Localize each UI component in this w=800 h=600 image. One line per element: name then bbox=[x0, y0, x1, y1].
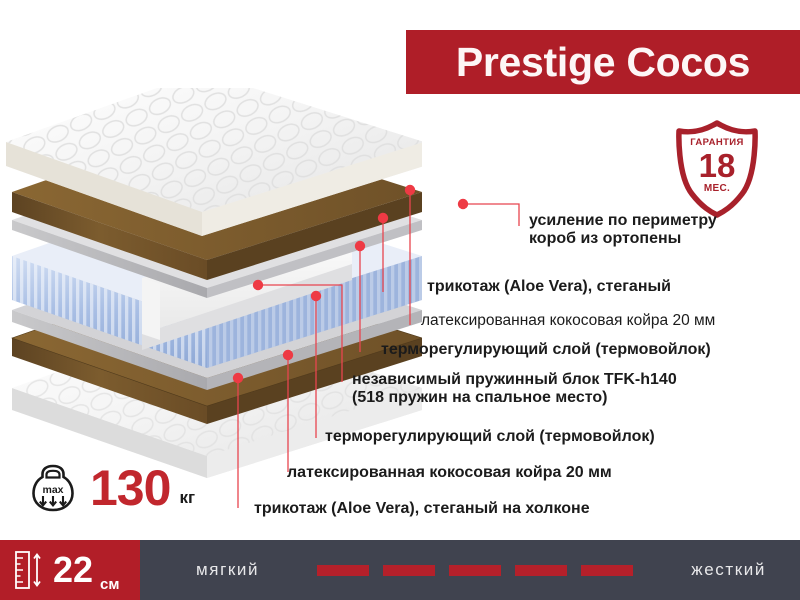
firmness-firm-label: жесткий bbox=[691, 560, 766, 580]
svg-text:max: max bbox=[42, 484, 63, 496]
firmness-marks bbox=[317, 565, 633, 576]
firmness-mark bbox=[581, 565, 633, 576]
callout-perimeter-line2: короб из ортопены bbox=[529, 230, 794, 248]
height-unit: см bbox=[100, 576, 119, 593]
callout-coir-bottom: латексированная кокосовая койра 20 мм bbox=[287, 464, 612, 482]
warranty-bottom-label: МЕС. bbox=[672, 184, 762, 194]
product-title: Prestige Cocos bbox=[456, 42, 750, 83]
firmness-mark bbox=[449, 565, 501, 576]
callout-knit-top: трикотаж (Aloe Vera), стеганый bbox=[427, 278, 671, 296]
callout-felt-top: терморегулирующий слой (термовойлок) bbox=[381, 341, 711, 359]
callout-spring-block-line1: независимый пружинный блок TFK-h140 bbox=[352, 371, 798, 389]
bottom-spec-bar: 22 см мягкий жесткий bbox=[0, 540, 800, 600]
callout-felt-bottom: терморегулирующий слой (термовойлок) bbox=[325, 428, 655, 446]
warranty-badge: ГАРАНТИЯ 18 МЕС. bbox=[672, 120, 762, 218]
product-infographic: Prestige Cocos ГАРАНТИЯ 18 МЕС. bbox=[0, 0, 800, 600]
callout-perimeter: усиление по периметру короб из ортопены bbox=[529, 212, 794, 248]
firmness-scale: мягкий жесткий bbox=[140, 540, 800, 600]
weight-limit-unit: кг bbox=[179, 488, 195, 508]
height-spec-block: 22 см bbox=[0, 540, 140, 600]
callout-coir-top: латексированная кокосовая койра 20 мм bbox=[421, 312, 715, 330]
weight-limit-block: max 130 кг bbox=[30, 462, 195, 514]
callout-perimeter-line1: усиление по периметру bbox=[529, 212, 794, 230]
firmness-soft-label: мягкий bbox=[196, 560, 259, 580]
firmness-mark bbox=[317, 565, 369, 576]
height-value: 22 bbox=[53, 552, 93, 588]
callout-spring-block-line2: (518 пружин на спальное место) bbox=[352, 389, 798, 407]
product-title-banner: Prestige Cocos bbox=[406, 30, 800, 94]
warranty-value: 18 bbox=[672, 149, 762, 182]
weight-limit-value: 130 bbox=[90, 463, 170, 513]
firmness-mark bbox=[383, 565, 435, 576]
callout-knit-bottom: трикотаж (Aloe Vera), стеганый на холкон… bbox=[254, 500, 590, 518]
firmness-mark bbox=[515, 565, 567, 576]
callout-spring-block: независимый пружинный блок TFK-h140 (518… bbox=[352, 371, 798, 407]
ruler-icon bbox=[14, 550, 44, 590]
kettlebell-icon: max bbox=[30, 462, 76, 514]
